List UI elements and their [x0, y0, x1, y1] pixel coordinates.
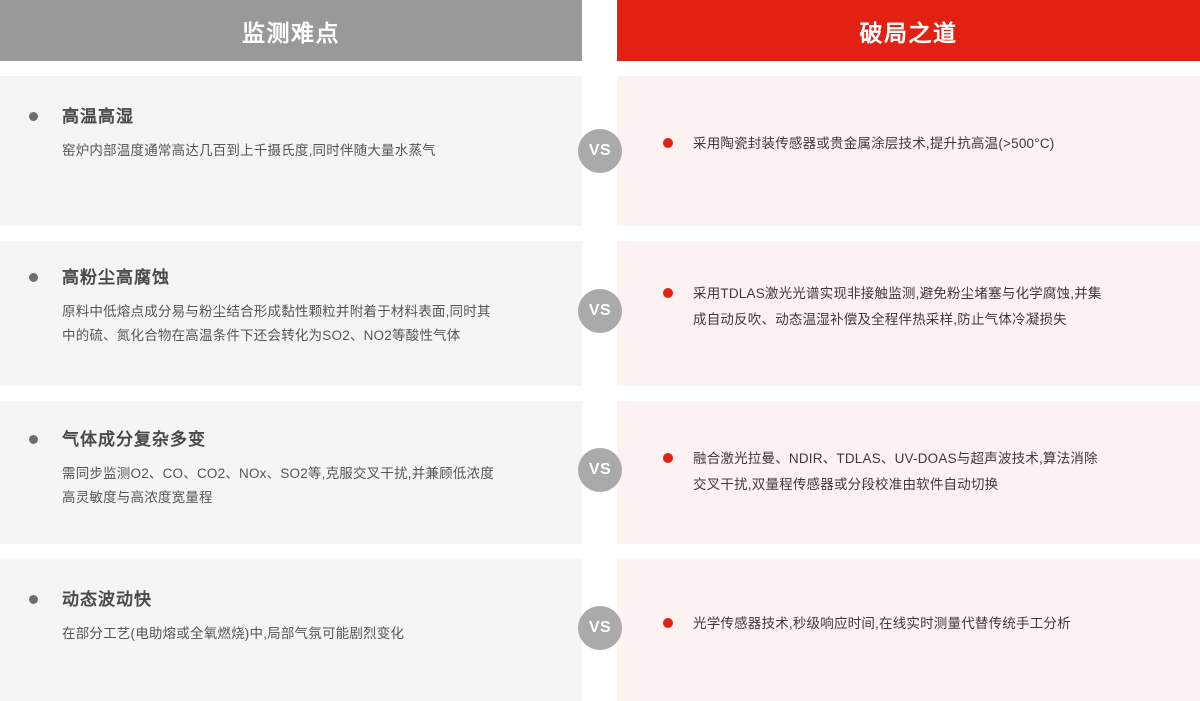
solution-item: 采用TDLAS激光光谱实现非接触监测,避免粉尘堵塞与化学腐蚀,并集成自动反吹、动…: [693, 281, 1103, 334]
bullet-icon: [29, 273, 38, 282]
solution-card: 光学传感器技术,秒级响应时间,在线实时测量代替传统手工分析: [617, 559, 1200, 701]
solution-item: 融合激光拉曼、NDIR、TDLAS、UV-DOAS与超声波技术,算法消除交叉干扰…: [693, 446, 1103, 499]
header-bar: 监测难点 破局之道: [0, 0, 1200, 61]
solution-text: 光学传感器技术,秒级响应时间,在线实时测量代替传统手工分析: [693, 616, 1071, 631]
bullet-icon: [663, 288, 673, 298]
issue-card: 动态波动快 在部分工艺(电助熔或全氧燃烧)中,局部气氛可能剧烈变化: [0, 559, 582, 701]
bullet-icon: [29, 435, 38, 444]
solution-item: 采用陶瓷封装传感器或贵金属涂层技术,提升抗高温(>500°C): [693, 131, 1103, 157]
vs-badge-label: VS: [589, 302, 611, 320]
issue-title-label: 气体成分复杂多变: [62, 430, 206, 449]
header-solutions-label: 破局之道: [860, 14, 958, 48]
issue-description: 在部分工艺(电助熔或全氧燃烧)中,局部气氛可能剧烈变化: [62, 622, 498, 646]
solution-item: 光学传感器技术,秒级响应时间,在线实时测量代替传统手工分析: [693, 611, 1103, 637]
solution-text: 采用陶瓷封装传感器或贵金属涂层技术,提升抗高温(>500°C): [693, 136, 1055, 151]
header-issues: 监测难点: [0, 0, 582, 61]
issue-title-label: 动态波动快: [62, 590, 152, 609]
vs-badge-label: VS: [589, 619, 611, 637]
issue-description: 原料中低熔点成分易与粉尘结合形成黏性颗粒并附着于材料表面,同时其中的硫、氮化合物…: [62, 300, 498, 347]
vs-badge: VS: [578, 448, 622, 492]
issue-description: 需同步监测O2、CO、CO2、NOx、SO2等,克服交叉干扰,并兼顾低浓度高灵敏…: [62, 462, 498, 509]
bullet-icon: [663, 138, 673, 148]
issue-title-label: 高温高湿: [62, 107, 134, 126]
header-issues-label: 监测难点: [242, 14, 340, 48]
bullet-icon: [663, 453, 673, 463]
vs-badge: VS: [578, 606, 622, 650]
comparison-board: 监测难点 破局之道 高温高湿 窑炉内部温度通常高达几百到上千摄氏度,同时伴随大量…: [0, 0, 1200, 701]
solution-text: 融合激光拉曼、NDIR、TDLAS、UV-DOAS与超声波技术,算法消除交叉干扰…: [693, 451, 1098, 492]
issue-title: 动态波动快: [62, 591, 542, 608]
solution-text: 采用TDLAS激光光谱实现非接触监测,避免粉尘堵塞与化学腐蚀,并集成自动反吹、动…: [693, 286, 1102, 327]
bullet-icon: [663, 618, 673, 628]
solution-card: 采用TDLAS激光光谱实现非接触监测,避免粉尘堵塞与化学腐蚀,并集成自动反吹、动…: [617, 241, 1200, 386]
issue-title: 高粉尘高腐蚀: [62, 269, 542, 286]
bullet-icon: [29, 112, 38, 121]
issue-card: 高温高湿 窑炉内部温度通常高达几百到上千摄氏度,同时伴随大量水蒸气: [0, 76, 582, 226]
header-solutions: 破局之道: [617, 0, 1200, 61]
issue-card: 高粉尘高腐蚀 原料中低熔点成分易与粉尘结合形成黏性颗粒并附着于材料表面,同时其中…: [0, 241, 582, 386]
issue-description: 窑炉内部温度通常高达几百到上千摄氏度,同时伴随大量水蒸气: [62, 139, 498, 163]
solution-card: 融合激光拉曼、NDIR、TDLAS、UV-DOAS与超声波技术,算法消除交叉干扰…: [617, 401, 1200, 544]
issue-title: 高温高湿: [62, 108, 542, 125]
vs-badge-label: VS: [589, 461, 611, 479]
issue-card: 气体成分复杂多变 需同步监测O2、CO、CO2、NOx、SO2等,克服交叉干扰,…: [0, 401, 582, 544]
issue-title-label: 高粉尘高腐蚀: [62, 268, 170, 287]
vs-badge: VS: [578, 289, 622, 333]
solution-card: 采用陶瓷封装传感器或贵金属涂层技术,提升抗高温(>500°C): [617, 76, 1200, 226]
issue-title: 气体成分复杂多变: [62, 431, 542, 448]
vs-badge-label: VS: [589, 142, 611, 160]
vs-badge: VS: [578, 129, 622, 173]
bullet-icon: [29, 595, 38, 604]
